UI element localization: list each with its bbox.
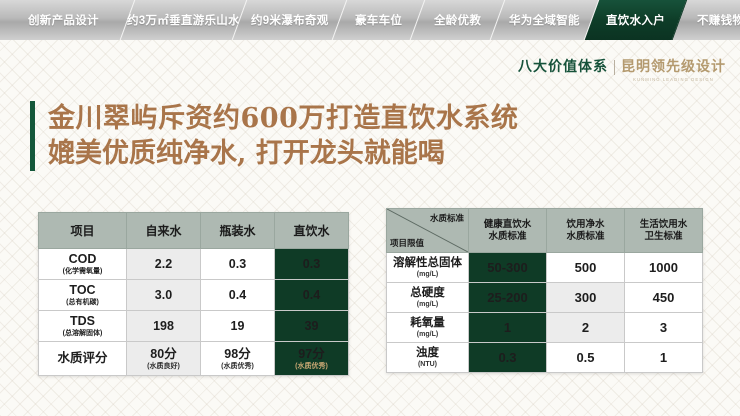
- cell-value: 2.2: [127, 257, 200, 271]
- nav-tab-4-label: 豪车车位: [355, 12, 402, 28]
- col-header-domestic-l2: 卫生标准: [625, 231, 702, 243]
- col-header-purified-l1: 饮用净水: [547, 219, 624, 231]
- nav-tab-1-label: 创新产品设计: [28, 12, 99, 28]
- col-header-healthy-l2: 水质标准: [469, 231, 546, 243]
- cell-domestic-0: 1000: [625, 253, 703, 283]
- row-label-tds: TDS (总溶解固体): [39, 311, 127, 342]
- cell-healthy-3: 0.3: [469, 343, 547, 373]
- col-header-purified-l2: 水质标准: [547, 231, 624, 243]
- cell-tap-cod: 2.2: [127, 249, 201, 280]
- col-header-domestic-l1: 生活饮用水: [625, 219, 702, 231]
- row-label-sub: (总溶解固体): [39, 329, 126, 338]
- nav-tab-3[interactable]: 约9米瀑布奇观: [233, 0, 348, 40]
- table-row: 溶解性总固体 (mg/L) 50-300 500 1000: [387, 253, 703, 283]
- row-label-hardness: 总硬度 (mg/L): [387, 283, 469, 313]
- nav-tab-3-label: 约9米瀑布奇观: [251, 12, 329, 28]
- cell-domestic-1: 450: [625, 283, 703, 313]
- nav-tab-4[interactable]: 豪车车位: [333, 0, 426, 40]
- cell-value-sub: (水质良好): [127, 362, 200, 371]
- row-label-main: TDS: [39, 315, 126, 328]
- cell-tap-toc: 3.0: [127, 280, 201, 311]
- cell-value: 0.4: [201, 288, 274, 302]
- cell-value: 2: [547, 320, 624, 335]
- nav-tab-6-label: 华为全域智能: [509, 12, 580, 28]
- cell-value: 500: [547, 260, 624, 275]
- headline-line-2: 媲美优质纯净水, 打开龙头就能喝: [48, 136, 518, 171]
- brand-lockup: 八大价值体系 昆明领先级设计 KUNMING LEADING DESIGN: [518, 58, 726, 82]
- nav-tab-2-label: 约3万㎡垂直游乐山水: [127, 12, 240, 28]
- cell-value: 0.4: [275, 288, 348, 302]
- cell-direct-tds: 39: [275, 311, 349, 342]
- corner-header-diagonal: 水质标准 项目限值: [387, 209, 469, 253]
- nav-tab-2[interactable]: 约3万㎡垂直游乐山水: [121, 0, 248, 40]
- cell-value: 450: [625, 290, 702, 305]
- nav-tab-8-label: 不赚钱物业: [697, 12, 740, 28]
- headline-line-1: 金川翠屿斥资约600万打造直饮水系统: [48, 101, 518, 136]
- cell-value: 80分: [127, 347, 200, 361]
- row-label-sub: (总有机碳): [39, 298, 126, 307]
- cell-value: 1: [625, 350, 702, 365]
- row-label-sub: (mg/L): [387, 270, 468, 279]
- cell-tap-score: 80分 (水质良好): [127, 342, 201, 376]
- col-header-domestic: 生活饮用水 卫生标准: [625, 209, 703, 253]
- nav-tab-5-label: 全龄优教: [434, 12, 481, 28]
- cell-value: 0.3: [275, 257, 348, 271]
- cell-domestic-3: 1: [625, 343, 703, 373]
- cell-healthy-0: 50-300: [469, 253, 547, 283]
- row-label-main: 水质评分: [39, 352, 126, 365]
- brand-latin-text: KUNMING LEADING DESIGN: [633, 77, 714, 82]
- cell-direct-cod: 0.3: [275, 249, 349, 280]
- headline-text: 金川翠屿斥资约600万打造直饮水系统 媲美优质纯净水, 打开龙头就能喝: [48, 101, 518, 171]
- water-standards-table: 水质标准 项目限值 健康直饮水 水质标准 饮用净水 水质标准 生活饮用水 卫生标…: [386, 208, 703, 373]
- cell-value: 0.3: [469, 350, 546, 365]
- cell-value: 39: [275, 319, 348, 333]
- slide-canvas: 创新产品设计 约3万㎡垂直游乐山水 约9米瀑布奇观 豪车车位 全龄优教 华为全域…: [0, 0, 740, 416]
- col-header-healthy: 健康直饮水 水质标准: [469, 209, 547, 253]
- cell-bottled-tds: 19: [201, 311, 275, 342]
- row-label-oxygen: 耗氧量 (mg/L): [387, 313, 469, 343]
- cell-value-sub: (水质优秀): [201, 362, 274, 371]
- table-row: COD (化学需氧量) 2.2 0.3 0.3: [39, 249, 349, 280]
- table-row: TDS (总溶解固体) 198 19 39: [39, 311, 349, 342]
- water-comparison-table: 项目 自来水 瓶装水 直饮水 COD (化学需氧量) 2.2 0.3: [38, 212, 349, 376]
- cell-value: 300: [547, 290, 624, 305]
- row-label-main: TOC: [39, 284, 126, 297]
- corner-label-limit: 项目限值: [390, 237, 424, 249]
- table-row: 水质评分 80分 (水质良好) 98分 (水质优秀) 97分 (水质优秀): [39, 342, 349, 376]
- row-label-turbidity: 浊度 (NTU): [387, 343, 469, 373]
- cell-value-sub: (水质优秀): [275, 362, 348, 371]
- row-label-toc: TOC (总有机碳): [39, 280, 127, 311]
- cell-purified-0: 500: [547, 253, 625, 283]
- col-header-direct: 直饮水: [275, 213, 349, 249]
- table-header-row: 水质标准 项目限值 健康直饮水 水质标准 饮用净水 水质标准 生活饮用水 卫生标…: [387, 209, 703, 253]
- corner-label-standard: 水质标准: [430, 212, 464, 224]
- cell-value: 19: [201, 319, 274, 333]
- nav-tab-5[interactable]: 全龄优教: [411, 0, 506, 40]
- brand-divider: [614, 60, 615, 75]
- cell-bottled-score: 98分 (水质优秀): [201, 342, 275, 376]
- cell-tap-tds: 198: [127, 311, 201, 342]
- row-label-main: 溶解性总固体: [387, 257, 468, 270]
- row-label-main: 耗氧量: [387, 317, 468, 330]
- cell-value: 0.3: [201, 257, 274, 271]
- cell-value: 25-200: [469, 290, 546, 305]
- brand-subtitle: 昆明领先级设计: [621, 58, 726, 76]
- cell-domestic-2: 3: [625, 313, 703, 343]
- headline-block: 金川翠屿斥资约600万打造直饮水系统 媲美优质纯净水, 打开龙头就能喝: [30, 101, 518, 171]
- row-label-main: COD: [39, 253, 126, 266]
- top-nav-tabs: 创新产品设计 约3万㎡垂直游乐山水 约9米瀑布奇观 豪车车位 全龄优教 华为全域…: [0, 0, 740, 40]
- cell-value: 97分: [275, 347, 348, 361]
- cell-bottled-cod: 0.3: [201, 249, 275, 280]
- cell-value: 98分: [201, 347, 274, 361]
- nav-tab-7-label: 直饮水入户: [606, 12, 665, 28]
- row-label-cod: COD (化学需氧量): [39, 249, 127, 280]
- cell-direct-toc: 0.4: [275, 280, 349, 311]
- table-row: 浊度 (NTU) 0.3 0.5 1: [387, 343, 703, 373]
- cell-value: 3.0: [127, 288, 200, 302]
- nav-tab-7-active[interactable]: 直饮水入户: [585, 0, 688, 40]
- table-row: 总硬度 (mg/L) 25-200 300 450: [387, 283, 703, 313]
- row-label-sub: (mg/L): [387, 330, 468, 339]
- brand-subtitle-group: 昆明领先级设计 KUNMING LEADING DESIGN: [621, 58, 726, 82]
- table-row: TOC (总有机碳) 3.0 0.4 0.4: [39, 280, 349, 311]
- cell-value: 50-300: [469, 260, 546, 275]
- col-header-tap: 自来水: [127, 213, 201, 249]
- row-label-score: 水质评分: [39, 342, 127, 376]
- cell-bottled-toc: 0.4: [201, 280, 275, 311]
- cell-purified-3: 0.5: [547, 343, 625, 373]
- row-label-tds-solids: 溶解性总固体 (mg/L): [387, 253, 469, 283]
- headline-accent-bar: [30, 101, 35, 171]
- brand-title: 八大价值体系: [518, 58, 608, 76]
- cell-purified-2: 2: [547, 313, 625, 343]
- cell-healthy-2: 1: [469, 313, 547, 343]
- row-label-sub: (化学需氧量): [39, 267, 126, 276]
- nav-tab-6[interactable]: 华为全域智能: [491, 0, 600, 40]
- nav-tab-1[interactable]: 创新产品设计: [0, 0, 135, 40]
- col-header-purified: 饮用净水 水质标准: [547, 209, 625, 253]
- row-label-main: 浊度: [387, 347, 468, 360]
- cell-healthy-1: 25-200: [469, 283, 547, 313]
- col-header-item: 项目: [39, 213, 127, 249]
- row-label-main: 总硬度: [387, 287, 468, 300]
- row-label-sub: (mg/L): [387, 300, 468, 309]
- cell-value: 1000: [625, 260, 702, 275]
- cell-value: 3: [625, 320, 702, 335]
- cell-value: 198: [127, 319, 200, 333]
- cell-direct-score: 97分 (水质优秀): [275, 342, 349, 376]
- row-label-sub: (NTU): [387, 360, 468, 369]
- cell-purified-1: 300: [547, 283, 625, 313]
- col-header-healthy-l1: 健康直饮水: [469, 219, 546, 231]
- cell-value: 1: [469, 320, 546, 335]
- table-row: 耗氧量 (mg/L) 1 2 3: [387, 313, 703, 343]
- col-header-bottled: 瓶装水: [201, 213, 275, 249]
- cell-value: 0.5: [547, 350, 624, 365]
- table-header-row: 项目 自来水 瓶装水 直饮水: [39, 213, 349, 249]
